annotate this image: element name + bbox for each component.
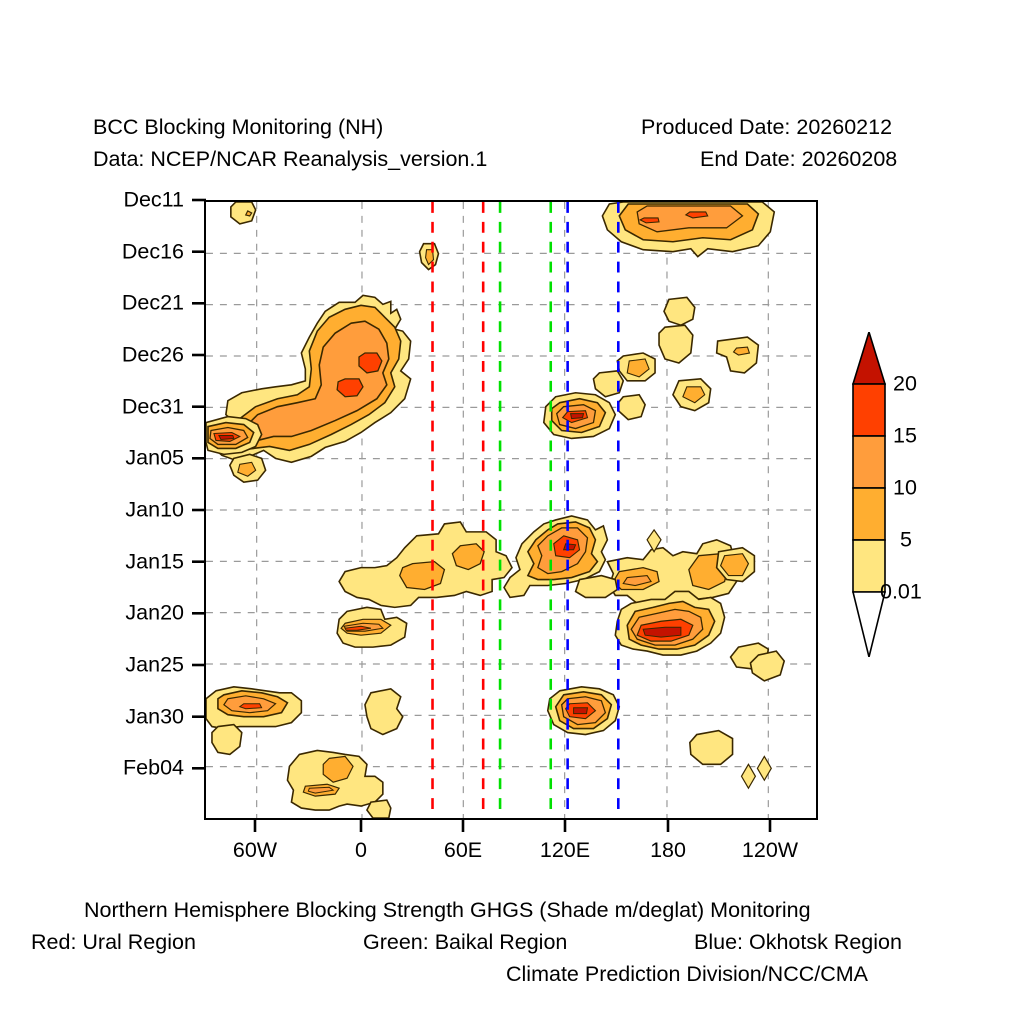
grid-lines (206, 202, 816, 818)
contour-band-L5 (574, 708, 588, 714)
contour-band-L1 (741, 764, 755, 788)
contour-band-L1 (212, 725, 242, 755)
produced-date-label: Produced Date: 20260212 (641, 115, 892, 140)
contour-band-L5 (571, 414, 584, 419)
contour-band-L2 (734, 347, 750, 355)
ytick-label: Jan20 (64, 601, 184, 626)
xtick-label: 120W (742, 838, 798, 863)
ytick-label: Dec11 (64, 188, 184, 213)
xtick-label: 60E (444, 838, 482, 863)
legend-baikal-region: Green: Baikal Region (363, 930, 567, 955)
ytick-label: Jan05 (64, 446, 184, 471)
hovmoller-contour-plot (206, 202, 816, 818)
xtick-label: 120E (540, 838, 590, 863)
ytick-label: Jan25 (64, 653, 184, 678)
end-date-label: End Date: 20260208 (700, 147, 897, 172)
ytick-label: Jan15 (64, 549, 184, 574)
contour-band-L5 (219, 435, 234, 439)
contour-band-L1 (618, 395, 645, 420)
ytick-label: Dec16 (64, 239, 184, 264)
ytick-label: Dec31 (64, 394, 184, 419)
footer-description: Northern Hemisphere Blocking Strength GH… (84, 898, 811, 923)
ytick-label: Dec21 (64, 291, 184, 316)
contour-band-L1 (365, 689, 403, 735)
colorbar-tick-10: 10 (893, 476, 917, 501)
ytick-label: Dec26 (64, 343, 184, 368)
legend-ural-region: Red: Ural Region (31, 930, 196, 955)
colorbar-tick-20: 20 (893, 372, 917, 397)
contour-band-L1 (757, 756, 771, 780)
colorbar-arrow-max (853, 332, 885, 384)
contour-band-L4 (240, 704, 262, 709)
contour-band-L1 (367, 800, 391, 818)
colorbar (852, 332, 886, 657)
contour-band-L1 (664, 297, 695, 325)
colorbar-tick-15: 15 (893, 424, 917, 449)
xtick-label: 180 (650, 838, 686, 863)
contour-band-L1 (659, 325, 693, 363)
colorbar-segment-20 (853, 384, 885, 436)
colorbar-segment-10 (853, 488, 885, 540)
colorbar-tick-5: 5 (900, 528, 912, 553)
contour-band-L1 (576, 576, 618, 598)
contour-band-L5 (564, 544, 576, 550)
footer-credit: Climate Prediction Division/NCC/CMA (506, 962, 868, 987)
legend-okhotsk-region: Blue: Okhotsk Region (694, 930, 902, 955)
ytick-label: Jan30 (64, 704, 184, 729)
xtick-label: 0 (355, 838, 367, 863)
contour-band-L5 (643, 627, 681, 637)
chart-title: BCC Blocking Monitoring (NH) (93, 115, 383, 140)
plot-area (204, 200, 818, 820)
colorbar-tick-0.01: 0.01 (880, 580, 922, 605)
contour-band-L1 (690, 731, 733, 765)
ytick-label: Feb04 (64, 756, 184, 781)
data-source-label: Data: NCEP/NCAR Reanalysis_version.1 (93, 147, 487, 172)
chart-page: BCC Blocking Monitoring (NH) Data: NCEP/… (0, 0, 1024, 1024)
ytick-label: Jan10 (64, 498, 184, 523)
colorbar-segment-15 (853, 436, 885, 488)
xtick-label: 60W (233, 838, 277, 863)
